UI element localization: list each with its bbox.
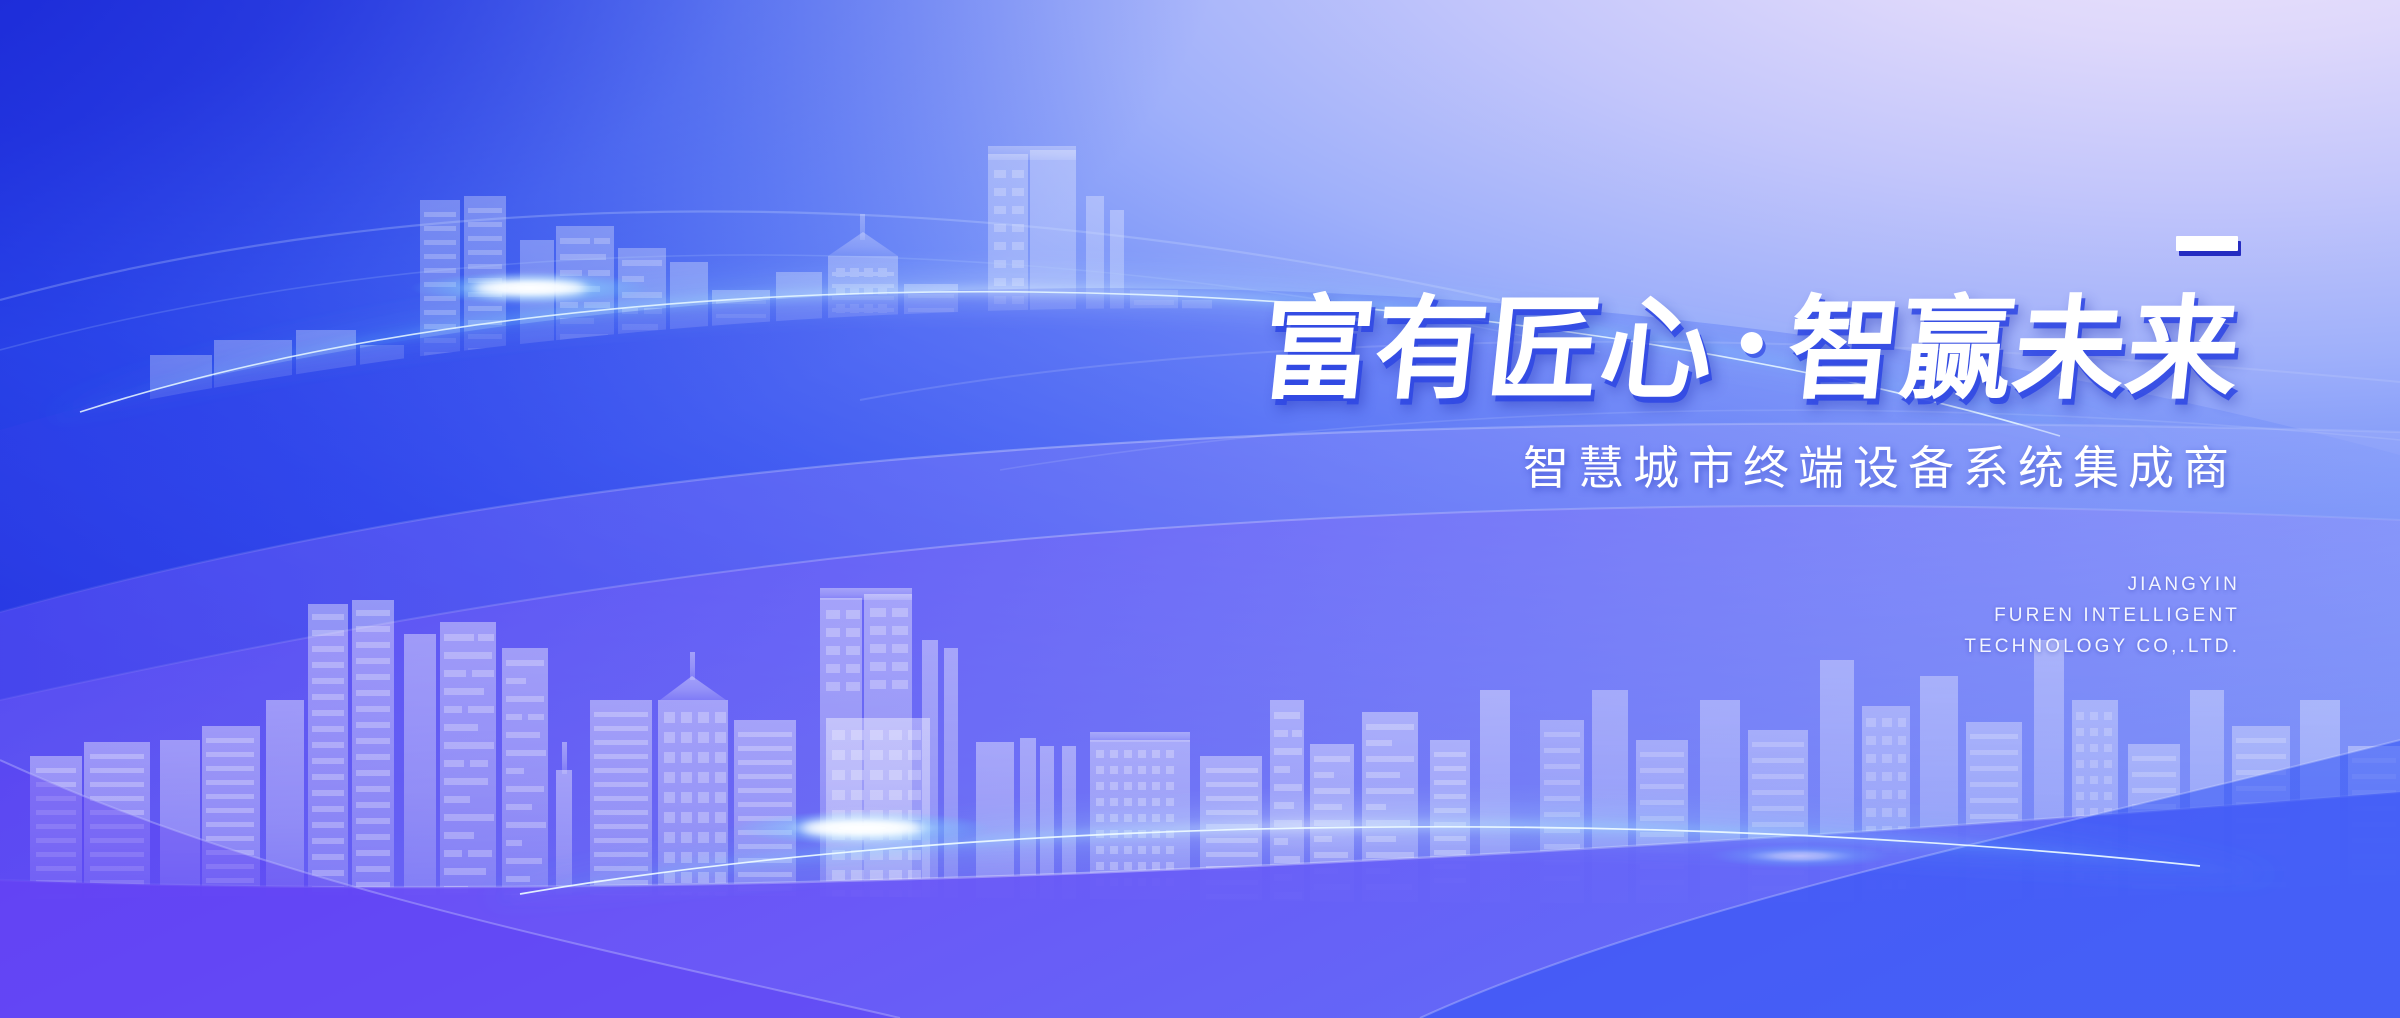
page-subtitle: 智慧城市终端设备系统集成商: [1060, 432, 2240, 498]
company-line-3: TECHNOLOGY CO,.LTD.: [1060, 632, 2240, 663]
headline-separator-dot-icon: [1741, 332, 1763, 354]
company-line-2: FUREN INTELLIGENT: [1060, 601, 2240, 632]
headline-part-2: 智赢未来: [1781, 285, 2247, 415]
accent-dash-icon: [2176, 236, 2238, 251]
company-name-block: JIANGYIN FUREN INTELLIGENT TECHNOLOGY CO…: [1060, 570, 2240, 662]
company-line-1: JIANGYIN: [1060, 570, 2240, 601]
accent-dash-wrap: [1060, 236, 2240, 256]
page-title: 富有匠心智赢未来: [1054, 294, 2246, 406]
headline-part-1: 富有匠心: [1255, 285, 1721, 415]
banner-root: 富有匠心智赢未来 智慧城市终端设备系统集成商 JIANGYIN FUREN IN…: [0, 0, 2400, 1018]
headline-block: 富有匠心智赢未来 智慧城市终端设备系统集成商 JIANGYIN FUREN IN…: [1060, 236, 2240, 662]
